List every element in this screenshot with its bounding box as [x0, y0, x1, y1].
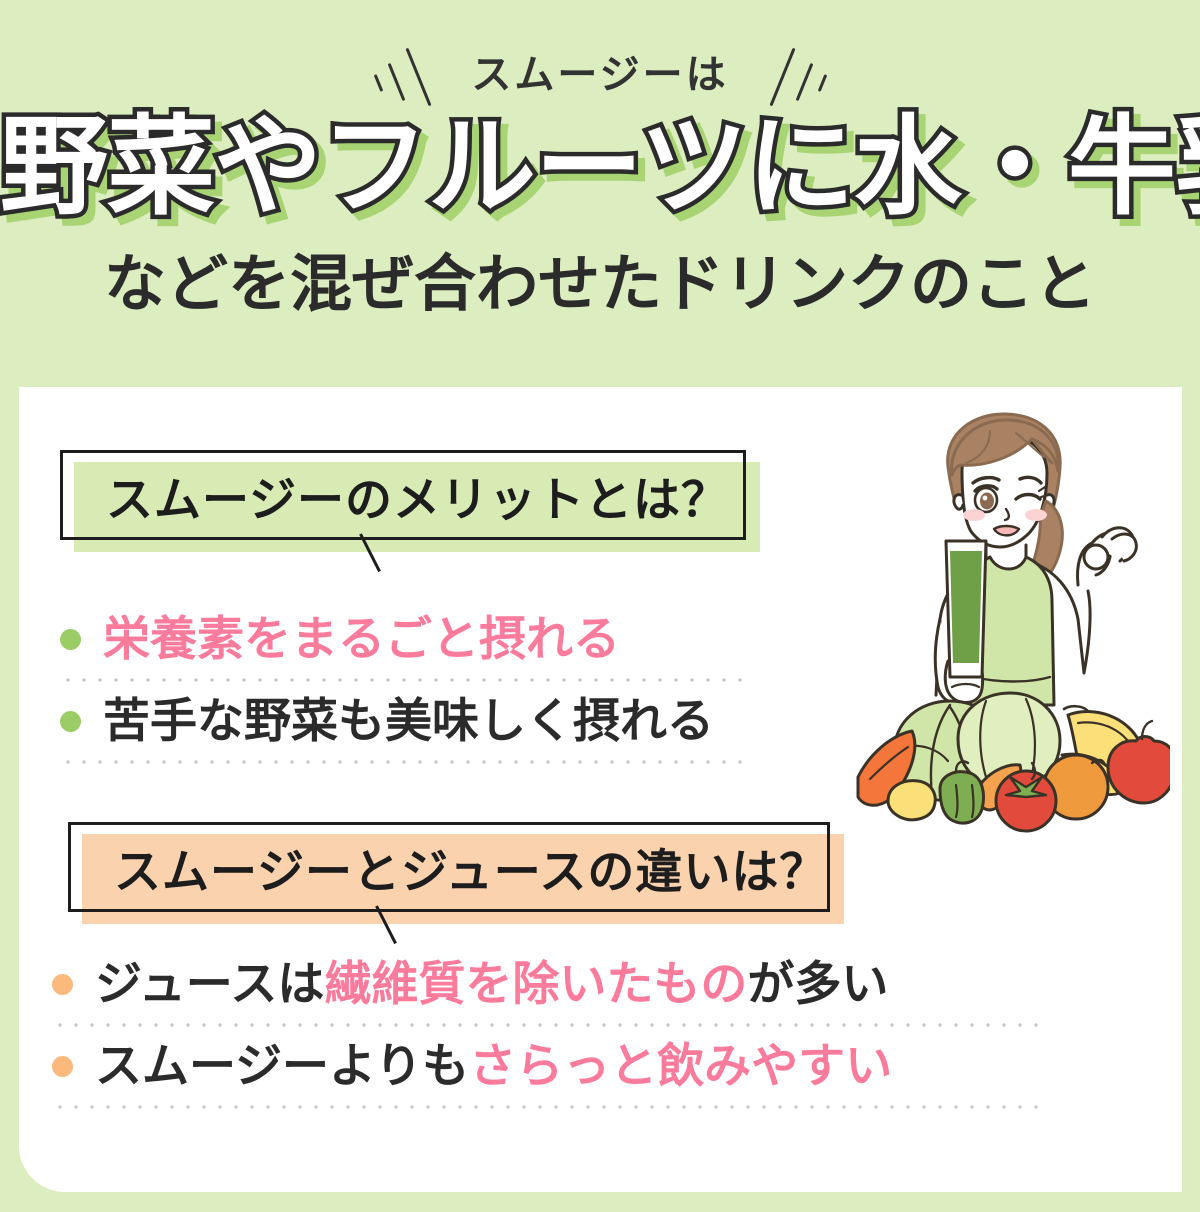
- slash-lines-right-icon: [759, 44, 829, 106]
- list-divider: [60, 760, 750, 764]
- list-item-text: 栄養素をまるごと摂れる: [103, 616, 620, 663]
- section-heading-difference-label: スムージーとジュースの違いは？: [68, 822, 830, 912]
- section-heading-merit-label: スムージーのメリットとは？: [60, 450, 746, 540]
- list-item: スムージーよりもさらっと飲みやすい: [52, 1027, 1047, 1105]
- list-divider: [52, 1105, 1047, 1109]
- slash-lines-left-icon: [371, 44, 441, 106]
- bullet-dot-icon: [52, 1056, 73, 1077]
- page-title-line2: などを混ぜ合わせたドリンクのこと: [0, 250, 1200, 318]
- eyebrow-row: スムージーは: [0, 44, 1200, 106]
- list-item-text: スムージーよりもさらっと飲みやすい: [95, 1043, 892, 1090]
- eyebrow-text: スムージーは: [471, 55, 728, 95]
- list-item: ジュースは繊維質を除いたものが多い: [52, 945, 1047, 1023]
- list-item-text: ジュースは繊維質を除いたものが多い: [95, 961, 888, 1008]
- bullet-dot-icon: [60, 711, 81, 732]
- infographic-page: スムージーは 野菜やフルーツに水・牛乳 などを混ぜ合わせたドリンクのこと スムー…: [0, 0, 1200, 1212]
- header-band: スムージーは 野菜やフルーツに水・牛乳 などを混ぜ合わせたドリンクのこと: [0, 0, 1200, 387]
- bullet-list-merit: 栄養素をまるごと摂れる 苦手な野菜も美味しく摂れる: [60, 600, 750, 764]
- list-item: 栄養素をまるごと摂れる: [60, 600, 750, 678]
- list-item: 苦手な野菜も美味しく摂れる: [60, 682, 750, 760]
- section-heading-merit: スムージーのメリットとは？: [60, 450, 746, 540]
- list-item-text: 苦手な野菜も美味しく摂れる: [103, 698, 714, 745]
- bullet-dot-icon: [52, 974, 73, 995]
- bullet-dot-icon: [60, 629, 81, 650]
- page-title-line1: 野菜やフルーツに水・牛乳: [0, 112, 1200, 224]
- woman-with-green-smoothie-and-produce-illustration: [840, 405, 1170, 865]
- bullet-list-difference: ジュースは繊維質を除いたものが多い スムージーよりもさらっと飲みやすい: [52, 945, 1047, 1109]
- section-heading-difference: スムージーとジュースの違いは？: [68, 822, 830, 912]
